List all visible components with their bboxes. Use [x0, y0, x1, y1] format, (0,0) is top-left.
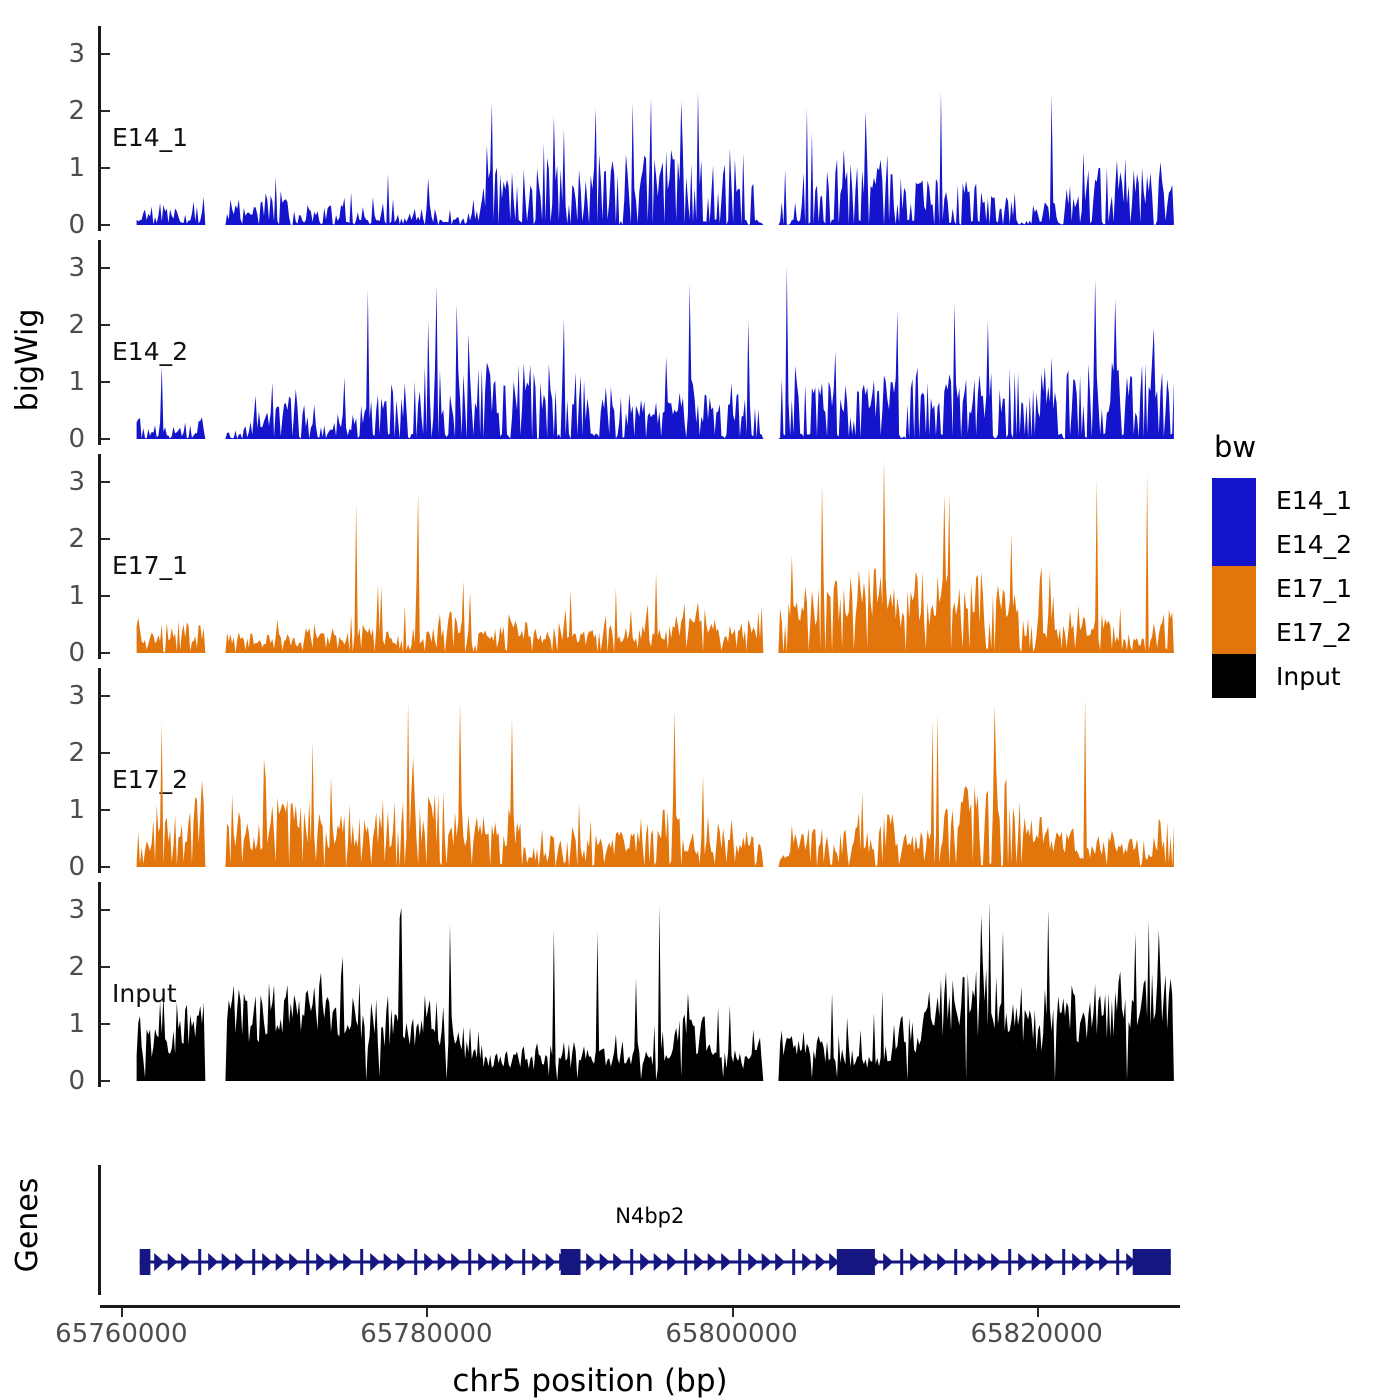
y-tick [101, 481, 110, 483]
y-tick-label: 0 [40, 1068, 85, 1094]
y-tick [101, 224, 110, 226]
y-tick [101, 652, 110, 654]
y-tick [101, 438, 110, 440]
y-tick [101, 167, 110, 169]
x-tick [1037, 1308, 1039, 1317]
y-axis-line [98, 882, 101, 1087]
y-tick-label: 1 [40, 155, 85, 181]
y-tick-label: 0 [40, 640, 85, 666]
legend-item-label: E17_2 [1276, 618, 1352, 647]
y-tick-label: 2 [40, 954, 85, 980]
x-axis-title: chr5 position (bp) [0, 1363, 1180, 1399]
y-tick-label: 3 [40, 897, 85, 923]
y-tick-label: 3 [40, 255, 85, 281]
x-tick [426, 1308, 428, 1317]
track-label-e17_1: E17_1 [112, 551, 188, 580]
legend-item-e14_2[interactable]: E14_2 [1212, 522, 1392, 566]
legend-item-e17_2[interactable]: E17_2 [1212, 610, 1392, 654]
legend-item-e17_1[interactable]: E17_1 [1212, 566, 1392, 610]
track-label-input: Input [112, 979, 177, 1008]
track-label-e14_1: E14_1 [112, 123, 188, 152]
y-axis-line [98, 26, 101, 231]
y-tick [101, 53, 110, 55]
gene-label: N4bp2 [615, 1204, 684, 1228]
legend-items: E14_1E14_2E17_1E17_2Input [1212, 478, 1392, 698]
legend-color-swatch [1212, 522, 1256, 566]
y-tick-label: 0 [40, 426, 85, 452]
y-tick [101, 267, 110, 269]
y-axis-line [98, 454, 101, 659]
x-tick-label: 65780000 [316, 1319, 536, 1349]
y-tick [101, 1023, 110, 1025]
y-tick-label: 2 [40, 740, 85, 766]
y-tick-label: 1 [40, 583, 85, 609]
y-tick-label: 1 [40, 797, 85, 823]
y-tick [101, 695, 110, 697]
x-tick-label: 65820000 [927, 1319, 1147, 1349]
genes-axis-label: Genes [8, 1150, 48, 1300]
legend-item-label: E14_1 [1276, 486, 1352, 515]
y-tick [101, 909, 110, 911]
x-axis-line [100, 1305, 1180, 1308]
legend-item-label: E14_2 [1276, 530, 1352, 559]
y-tick-label: 2 [40, 312, 85, 338]
y-tick [101, 538, 110, 540]
track-label-e17_2: E17_2 [112, 765, 188, 794]
y-tick-label: 3 [40, 41, 85, 67]
legend-item-input[interactable]: Input [1212, 654, 1392, 698]
legend-title: bw [1214, 430, 1392, 464]
y-tick-label: 0 [40, 854, 85, 880]
legend-color-swatch [1212, 610, 1256, 654]
legend-item-e14_1[interactable]: E14_1 [1212, 478, 1392, 522]
y-tick-label: 1 [40, 369, 85, 395]
y-tick [101, 595, 110, 597]
y-tick [101, 110, 110, 112]
x-tick [121, 1308, 123, 1317]
legend-item-label: Input [1276, 662, 1341, 691]
y-tick-label: 2 [40, 526, 85, 552]
y-axis-line [98, 240, 101, 445]
legend-color-swatch [1212, 654, 1256, 698]
y-tick-label: 3 [40, 683, 85, 709]
genes-axis-line [98, 1165, 101, 1295]
y-tick-label: 3 [40, 469, 85, 495]
y-tick [101, 809, 110, 811]
y-tick [101, 1080, 110, 1082]
y-tick [101, 324, 110, 326]
y-tick [101, 966, 110, 968]
legend-color-swatch [1212, 566, 1256, 610]
x-tick-label: 65800000 [622, 1319, 842, 1349]
y-tick-label: 0 [40, 212, 85, 238]
x-tick-label: 65760000 [11, 1319, 231, 1349]
legend-color-swatch [1212, 478, 1256, 522]
y-tick-label: 2 [40, 98, 85, 124]
track-label-e14_2: E14_2 [112, 337, 188, 366]
legend: bw E14_1E14_2E17_1E17_2Input [1212, 430, 1392, 698]
y-tick [101, 752, 110, 754]
y-tick [101, 381, 110, 383]
x-tick [732, 1308, 734, 1317]
legend-item-label: E17_1 [1276, 574, 1352, 603]
y-tick [101, 866, 110, 868]
y-tick-label: 1 [40, 1011, 85, 1037]
y-axis-line [98, 668, 101, 873]
